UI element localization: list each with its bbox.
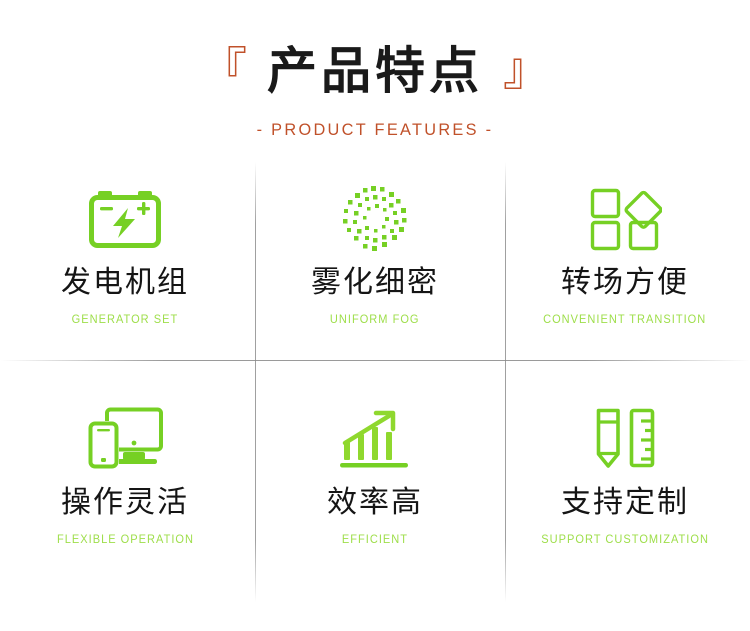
feature-title-en: GENERATOR SET	[72, 312, 179, 326]
feature-title-en: SUPPORT CUSTOMIZATION	[541, 532, 709, 546]
page-header: 『 产品特点 』 - PRODUCT FEATURES -	[0, 0, 750, 140]
battery-bolt-icon	[87, 176, 163, 262]
feature-title-cn: 效率高	[327, 488, 423, 518]
feature-title-en: EFFICIENT	[342, 532, 408, 546]
monitor-phone-icon	[85, 396, 165, 482]
page-title-text: 产品特点	[267, 46, 483, 96]
page-title: 『 产品特点 』	[0, 40, 750, 102]
feature-title-cn: 操作灵活	[61, 488, 189, 518]
feature-cell-flexible-operation[interactable]: 操作灵活 FLEXIBLE OPERATION	[0, 382, 250, 602]
bar-chart-arrow-icon	[340, 396, 410, 482]
page-subtitle: - PRODUCT FEATURES -	[15, 120, 735, 140]
bracket-left-icon: 『	[201, 46, 247, 92]
feature-cell-uniform-fog[interactable]: 雾化细密 UNIFORM FOG	[250, 162, 500, 382]
feature-title-en: FLEXIBLE OPERATION	[56, 532, 193, 546]
feature-title-en: UNIFORM FOG	[330, 312, 420, 326]
feature-cell-generator-set[interactable]: 发电机组 GENERATOR SET	[0, 162, 250, 382]
feature-cell-support-customization[interactable]: 支持定制 SUPPORT CUSTOMIZATION	[500, 382, 750, 602]
feature-title-cn: 雾化细密	[311, 268, 439, 298]
feature-title-cn: 支持定制	[561, 488, 689, 518]
bracket-right-icon: 』	[503, 46, 549, 92]
feature-cell-convenient-transition[interactable]: 转场方便 CONVENIENT TRANSITION	[500, 162, 750, 382]
feature-cell-efficient[interactable]: 效率高 EFFICIENT	[250, 382, 500, 602]
squares-diamond-icon	[588, 176, 662, 262]
feature-title-en: CONVENIENT TRANSITION	[543, 312, 706, 326]
feature-grid: 发电机组 GENERATOR SET	[0, 162, 750, 602]
feature-title-cn: 转场方便	[561, 268, 689, 298]
pencil-ruler-icon	[594, 396, 656, 482]
feature-title-cn: 发电机组	[61, 268, 189, 298]
fog-dots-icon	[338, 176, 412, 262]
